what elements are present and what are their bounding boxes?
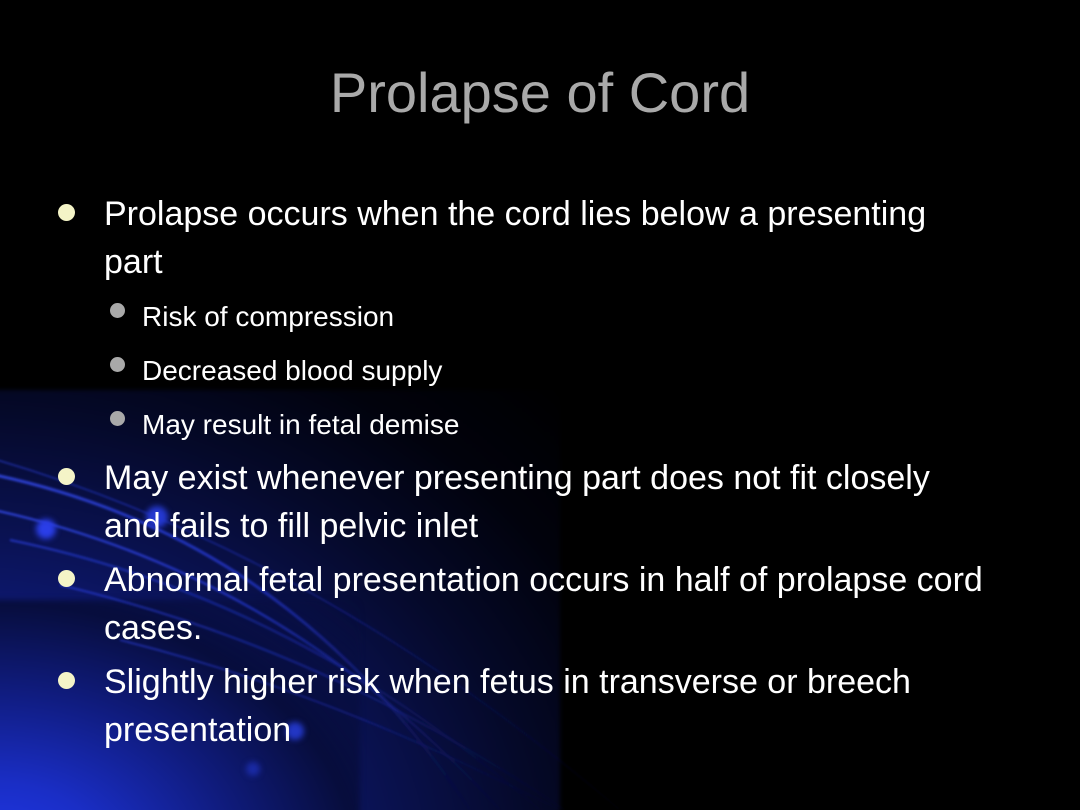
bullet-item: May result in fetal demise [110, 400, 1040, 450]
bullet-marker-level1 [58, 468, 75, 485]
bullet-text: Risk of compression [142, 292, 394, 342]
glow-dot [36, 519, 56, 539]
bullet-marker-level1 [58, 204, 75, 221]
bullet-text: May exist whenever presenting part does … [104, 454, 984, 550]
bullet-text: Slightly higher risk when fetus in trans… [104, 658, 984, 754]
bullet-item: Prolapse occurs when the cord lies below… [58, 190, 1040, 286]
bullet-text: May result in fetal demise [142, 400, 459, 450]
bullet-marker-level1 [58, 672, 75, 689]
slide-title: Prolapse of Cord [0, 62, 1080, 124]
bullet-text: Decreased blood supply [142, 346, 442, 396]
bullet-item: Risk of compression [110, 292, 1040, 342]
bullet-marker-level2 [110, 303, 125, 318]
presentation-slide: Prolapse of Cord Prolapse occurs when th… [0, 0, 1080, 810]
bullet-item: Abnormal fetal presentation occurs in ha… [58, 556, 1040, 652]
glow-dot [246, 762, 260, 776]
bullet-item: May exist whenever presenting part does … [58, 454, 1040, 550]
bullet-item: Slightly higher risk when fetus in trans… [58, 658, 1040, 754]
bullet-marker-level2 [110, 357, 125, 372]
bullet-text: Prolapse occurs when the cord lies below… [104, 190, 984, 286]
slide-body-content: Prolapse occurs when the cord lies below… [58, 190, 1040, 760]
bullet-marker-level2 [110, 411, 125, 426]
bullet-item: Decreased blood supply [110, 346, 1040, 396]
bullet-marker-level1 [58, 570, 75, 587]
bullet-text: Abnormal fetal presentation occurs in ha… [104, 556, 984, 652]
